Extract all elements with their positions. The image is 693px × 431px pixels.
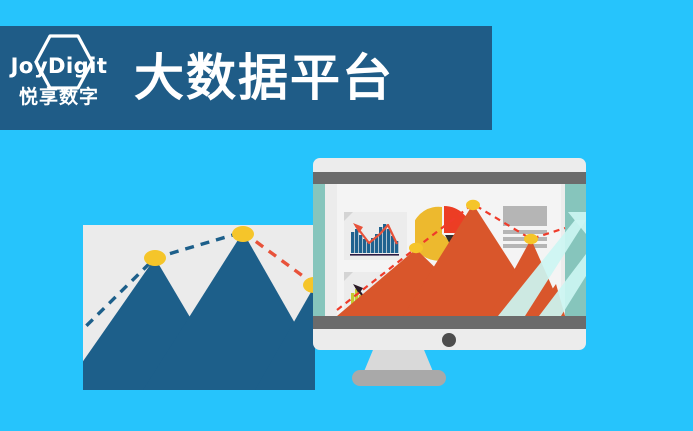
screen-gutter-left [325,184,337,316]
monitor-screen [313,184,586,316]
monitor-camera-dot [442,333,456,347]
page-title: 大数据平台 [134,53,394,103]
olive-bar-chart-card [344,272,407,316]
data-point-marker [232,226,254,242]
pie-chart [415,206,472,263]
data-point-marker [144,250,166,266]
gray-text-block [503,206,547,246]
brand-logo: JoyDigit 悦享数字 [0,26,118,130]
screen-gutter-right [561,184,565,316]
text-line [503,237,547,241]
desktop-monitor [313,158,586,350]
blue-bar-chart-svg [344,212,407,260]
foreground-mountain-chart [83,225,315,390]
logo-subtitle: 悦享数字 [19,88,99,107]
poster-canvas: JoyDigit 悦享数字 大数据平台 [0,0,693,431]
monitor-base [352,370,446,386]
screen-side-band-left [313,184,325,316]
pie-slice-red [444,206,472,233]
logo-wordmark: JoyDigit [11,56,108,77]
text-line [503,230,547,234]
image-placeholder [503,206,547,226]
monitor-top-bar [313,172,586,184]
text-line [503,244,547,248]
screen-side-band-right [565,184,586,316]
monitor-bottom-bar [313,316,586,329]
olive-bar-chart-svg [344,272,407,316]
pie-chart-svg [415,206,472,263]
mountain-chart-svg [83,225,315,390]
blue-bar-chart-card [344,212,407,260]
header-banner: JoyDigit 悦享数字 大数据平台 [0,26,492,130]
